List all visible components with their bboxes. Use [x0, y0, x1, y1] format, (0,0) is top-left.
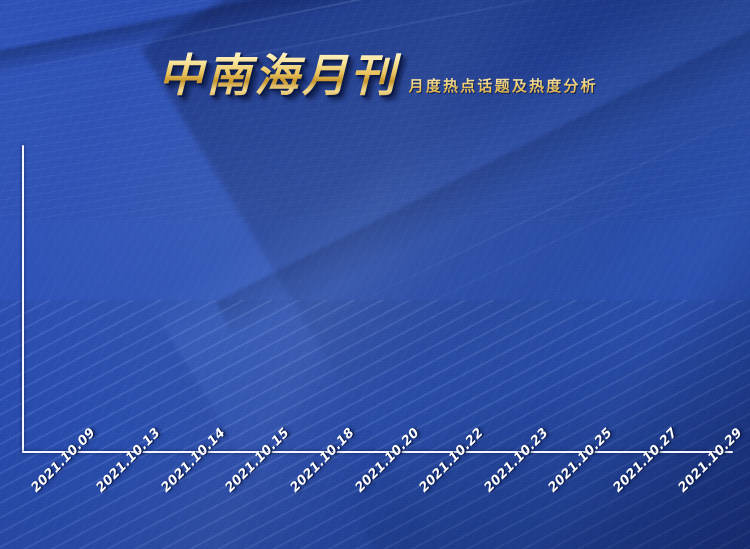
page-subtitle: 月度热点话题及热度分析 — [409, 75, 598, 96]
x-axis-tick-labels: 2021.10.092021.10.132021.10.142021.10.15… — [0, 451, 750, 549]
header: 中南海月刊 月度热点话题及热度分析 — [0, 52, 750, 99]
page-title: 中南海月刊 — [152, 52, 404, 99]
plot-area — [24, 145, 733, 451]
slide-canvas: 中南海月刊 月度热点话题及热度分析 2021.10.092021.10.1320… — [0, 0, 750, 549]
